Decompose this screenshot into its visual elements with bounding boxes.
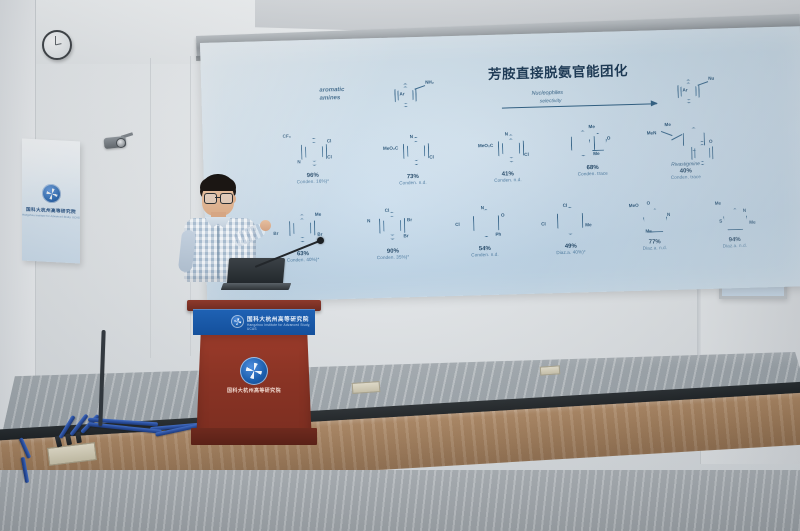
product-condition: Diaz.a. n.d.: [618, 244, 692, 251]
podium-banner-title: 国科大杭州高等研究院: [247, 315, 309, 323]
room-floor-texture: [0, 470, 800, 531]
product-item: Me S N Me 94% Diaz.a. n.d.: [696, 195, 771, 249]
institute-emblem-icon: [240, 357, 268, 385]
eyeglasses-icon: [204, 193, 232, 202]
product-condition: Conden. 16%)*: [276, 178, 350, 185]
podium: 国科大杭州高等研究院 Hangzhou Institute for Advanc…: [193, 300, 315, 445]
product-condition: Diaz.a. n.d.: [698, 242, 772, 249]
lecture-hall-photo: 国科大杭州高等研究院 Hangzhou Institute for Advanc…: [0, 0, 800, 531]
podium-base: [191, 428, 317, 445]
product-condition: Diaz.a. 40%)*: [534, 249, 608, 256]
podium-front-title: 国科大杭州高等研究院: [206, 387, 302, 394]
floor-outlet-box: [352, 381, 381, 394]
banner-glare: [22, 138, 80, 263]
product-condition: Conden. 35%)*: [356, 254, 430, 261]
product-condition: Conden. trace: [556, 170, 630, 177]
microphone-icon: [255, 236, 327, 272]
product-item: Me MeN O Rivastigmine 40% Conden. trace: [642, 120, 728, 180]
product-item: Me O Me 68% Conden. trace: [554, 123, 629, 177]
presenter-hand: [260, 220, 271, 231]
product-condition: Conden. n.d.: [374, 179, 452, 186]
ptz-camera-icon: [104, 133, 132, 151]
left-roll-up-banner: 国科大杭州高等研究院 Hangzhou Institute for Advanc…: [22, 138, 80, 263]
wall-seam: [150, 58, 151, 358]
product-item: Cl N O Ph 54% Conden. n.d.: [445, 204, 524, 258]
presenter-shirt-placket: [217, 226, 219, 278]
product-item: MeO₂C Cl N 73% Conden. n.d.: [373, 132, 452, 186]
product-item: MeO O N Me 77% Diaz.a. n.d.: [617, 197, 692, 251]
product-item: N Cl Br Br 90% Conden. 35%)*: [355, 207, 430, 261]
product-item: MeO₂C Cl N 41% Conden. n.d.: [468, 129, 547, 183]
product-condition: Conden. n.d.: [469, 176, 547, 183]
wall-clock-left: [42, 30, 72, 60]
product-condition: Conden. n.d.: [446, 251, 524, 258]
product-item: Cl Cl Me 49% Diaz.a. 40%)*: [533, 202, 608, 256]
institute-emblem-icon: [231, 315, 244, 328]
podium-banner: 国科大杭州高等研究院 Hangzhou Institute for Advanc…: [193, 309, 315, 335]
floor-outlet-box: [540, 365, 561, 375]
presenter-hair-front: [200, 178, 236, 191]
podium-banner-subtitle: Hangzhou Institute for Advanced Study, U…: [247, 323, 315, 331]
product-condition: Conden. trace: [644, 173, 728, 180]
product-item: CF₃ Cl Cl N 96% Conden. 16%)*: [275, 131, 350, 185]
